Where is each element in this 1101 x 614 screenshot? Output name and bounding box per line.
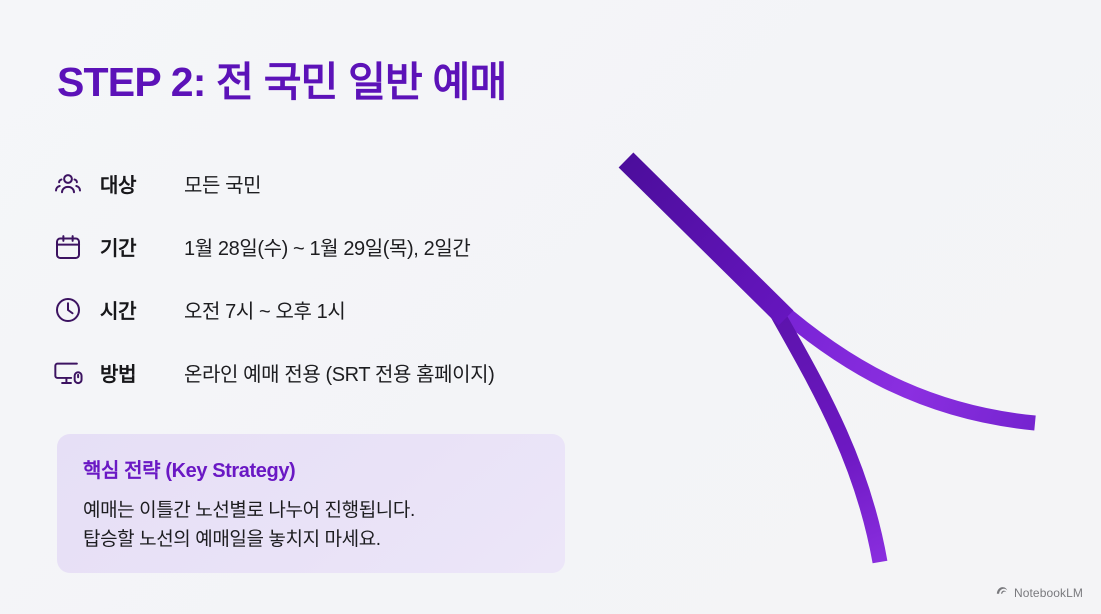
info-row-period: 기간 1월 28일(수) ~ 1월 29일(목), 2일간	[50, 215, 590, 278]
notebooklm-spark-icon	[995, 583, 1009, 602]
calendar-icon	[50, 232, 100, 262]
monitor-mouse-icon	[50, 358, 100, 388]
info-value-method: 온라인 예매 전용 (SRT 전용 홈페이지)	[184, 358, 494, 387]
info-label-time: 시간	[100, 295, 184, 324]
info-label-method: 방법	[100, 358, 184, 387]
people-group-icon	[50, 169, 100, 199]
rail-fork-svg	[590, 130, 1060, 590]
watermark-label: NotebookLM	[1014, 586, 1083, 600]
info-label-period: 기간	[100, 232, 184, 261]
slide-canvas: STEP 2: 전 국민 일반 예매 대상 모든 국민	[0, 0, 1101, 614]
callout-line-1: 예매는 이틀간 노선별로 나누어 진행됩니다.	[83, 497, 539, 526]
info-value-period: 1월 28일(수) ~ 1월 29일(목), 2일간	[184, 232, 470, 261]
info-row-target: 대상 모든 국민	[50, 152, 590, 215]
notebooklm-watermark: NotebookLM	[995, 583, 1083, 602]
info-row-time: 시간 오전 7시 ~ 오후 1시	[50, 278, 590, 341]
info-list: 대상 모든 국민 기간 1월 28일(수) ~ 1월 29일(목), 2일간	[50, 152, 590, 404]
info-value-time: 오전 7시 ~ 오후 1시	[184, 295, 345, 324]
rail-fork-graphic	[590, 130, 1060, 590]
clock-icon	[50, 295, 100, 325]
key-strategy-callout: 핵심 전략 (Key Strategy) 예매는 이틀간 노선별로 나누어 진행…	[57, 434, 565, 573]
callout-title: 핵심 전략 (Key Strategy)	[83, 454, 539, 483]
page-title: STEP 2: 전 국민 일반 예매	[57, 59, 506, 106]
info-row-method: 방법 온라인 예매 전용 (SRT 전용 홈페이지)	[50, 341, 590, 404]
info-label-target: 대상	[100, 169, 184, 198]
info-value-target: 모든 국민	[184, 169, 261, 198]
callout-line-2: 탑승할 노선의 예매일을 놓치지 마세요.	[83, 526, 539, 555]
